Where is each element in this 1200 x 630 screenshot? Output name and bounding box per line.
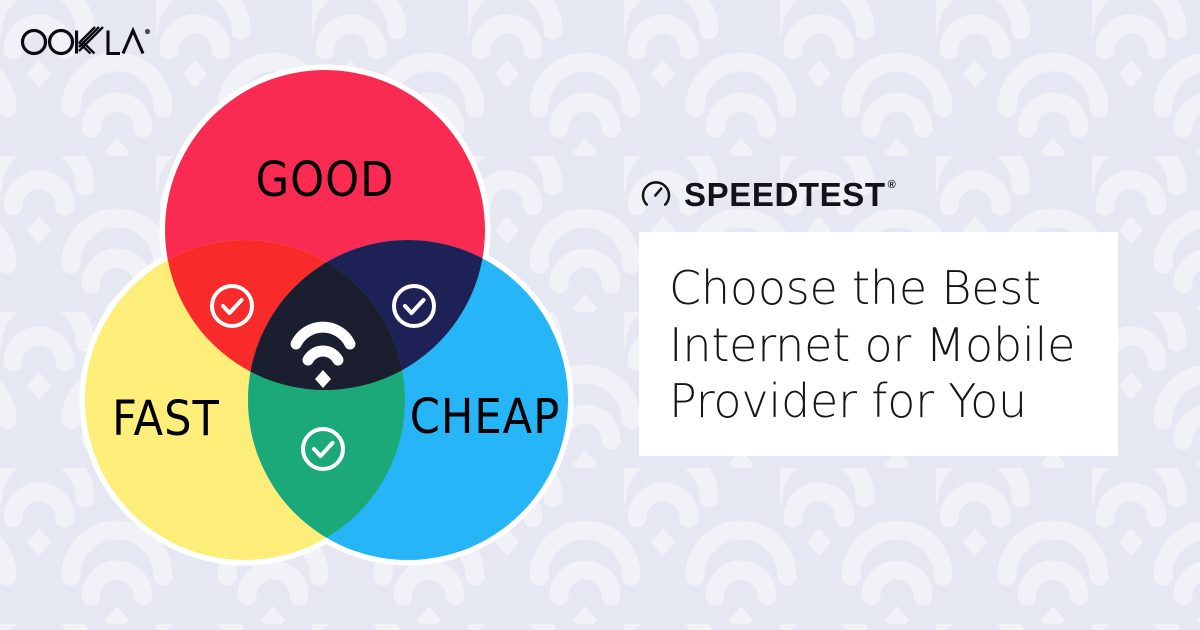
right-content-column: SPEEDTEST ® Choose the Best Internet or … xyxy=(639,172,1119,456)
headline-line-2: Internet or Mobile xyxy=(669,317,1088,374)
speedometer-gauge-icon xyxy=(639,177,673,211)
venn-label-fast: FAST xyxy=(112,391,220,447)
headline-line-1: Choose the Best xyxy=(669,260,1088,317)
speedtest-registered-mark: ® xyxy=(888,179,896,191)
speedtest-logo: SPEEDTEST ® xyxy=(639,172,1119,216)
venn-label-cheap: CHEAP xyxy=(410,389,561,445)
poster-canvas: GOOD FAST CHEAP xyxy=(0,0,1200,630)
ookla-logo xyxy=(16,17,156,57)
venn-label-good: GOOD xyxy=(256,152,395,208)
speedtest-wordmark: SPEEDTEST xyxy=(684,178,886,211)
headline-card: Choose the Best Internet or Mobile Provi… xyxy=(639,232,1118,456)
page-title: Choose the Best Internet or Mobile Provi… xyxy=(669,260,1088,430)
headline-line-3: Provider for You xyxy=(669,373,1088,430)
venn-diagram: GOOD FAST CHEAP xyxy=(40,50,620,590)
